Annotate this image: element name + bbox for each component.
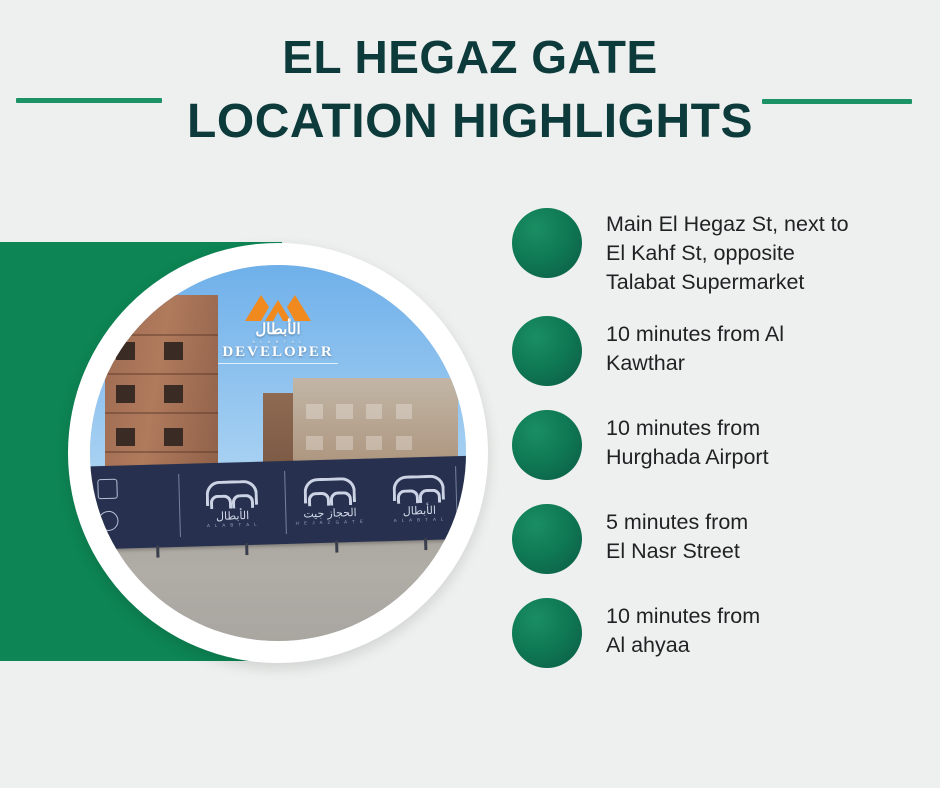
highlight-text-al-ahyaa: 10 minutes from Al ahyaa <box>606 598 932 660</box>
list-item: 10 minutes from Al ahyaa <box>512 598 932 668</box>
photo-watermark: الأبطال A L A B T A L DEVELOPER <box>203 291 353 364</box>
billboard-panel-2: الحجاز جيت H E J A Z G A T E <box>285 465 376 537</box>
photo-building-left <box>105 295 218 491</box>
highlight-text-el-nasr-street: 5 minutes from El Nasr Street <box>606 504 932 566</box>
bullet-dot-icon <box>512 316 582 386</box>
location-highlights-poster: EL HEGAZ GATE LOCATION HIGHLIGHTS <box>0 0 940 788</box>
title-rule-left <box>16 98 162 103</box>
arch-logo-icon <box>206 479 259 505</box>
highlight-text-hurghada-airport: 10 minutes from Hurghada Airport <box>606 410 932 472</box>
abtal-monogram-icon <box>243 291 313 321</box>
list-item: 10 minutes from Al Kawthar <box>512 316 932 386</box>
bullet-dot-icon <box>512 208 582 278</box>
billboard-panel-1: الأبطال A L A B T A L <box>187 467 278 539</box>
highlight-text-location-address: Main El Hegaz St, next to El Kahf St, op… <box>606 208 932 296</box>
billboard-panel-3: الأبطال A L A B T A L <box>374 462 465 534</box>
page-title-line-2: LOCATION HIGHLIGHTS <box>0 82 940 146</box>
site-photo: الأبطال A L A B T A L الحجاز جيت H E J A… <box>90 265 466 641</box>
watermark-underline <box>218 363 338 364</box>
bullet-dot-icon <box>512 504 582 574</box>
highlight-text-al-kawthar: 10 minutes from Al Kawthar <box>606 316 932 378</box>
page-title-line-1: EL HEGAZ GATE <box>0 34 940 80</box>
arch-gate-logo-icon <box>304 476 357 502</box>
poster-header: EL HEGAZ GATE LOCATION HIGHLIGHTS <box>0 34 940 146</box>
circular-photo-frame: الأبطال A L A B T A L الحجاز جيت H E J A… <box>68 243 488 663</box>
highlights-list: Main El Hegaz St, next to El Kahf St, op… <box>512 208 932 668</box>
bullet-dot-icon <box>512 410 582 480</box>
list-item: 5 minutes from El Nasr Street <box>512 504 932 574</box>
title-rule-right <box>762 99 912 104</box>
arch-logo-icon-2 <box>393 474 446 500</box>
photo-billboard: الأبطال A L A B T A L الحجاز جيت H E J A… <box>90 455 466 549</box>
list-item: Main El Hegaz St, next to El Kahf St, op… <box>512 208 932 296</box>
bullet-dot-icon <box>512 598 582 668</box>
list-item: 10 minutes from Hurghada Airport <box>512 410 932 480</box>
